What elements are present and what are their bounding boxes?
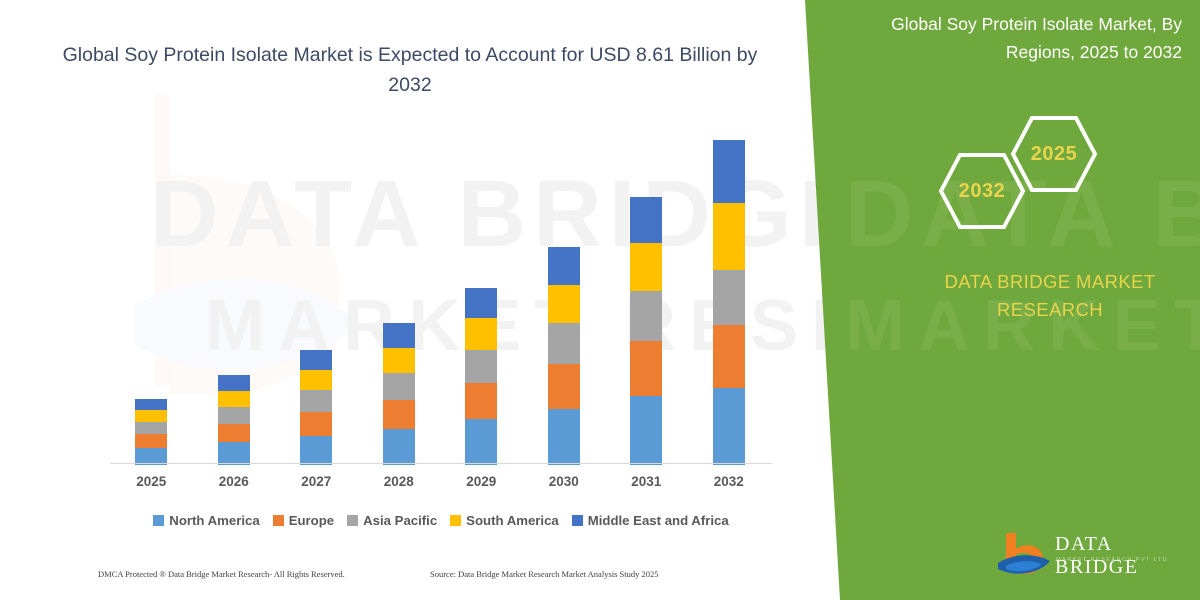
- bar-segment: [383, 373, 415, 399]
- x-label-2025: 2025: [116, 474, 186, 489]
- bar-segment: [383, 323, 415, 348]
- x-label-2028: 2028: [364, 474, 434, 489]
- bar-segment: [465, 318, 497, 349]
- bar-segment: [300, 436, 332, 465]
- bar-2030: [548, 247, 580, 465]
- bar-segment: [630, 396, 662, 465]
- bar-2027: [300, 350, 332, 465]
- bar-segment: [300, 412, 332, 436]
- bar-segment: [218, 375, 250, 390]
- bar-segment: [135, 434, 167, 448]
- bar-segment: [465, 383, 497, 420]
- chart-panel: DATA BRIDGE MARKET RESEARCH Global Soy P…: [0, 0, 840, 600]
- bar-segment: [465, 288, 497, 319]
- bar-segment: [135, 410, 167, 422]
- bar-segment: [218, 442, 250, 465]
- legend-item[interactable]: South America: [450, 513, 559, 528]
- bar-segment: [630, 291, 662, 341]
- x-label-2032: 2032: [694, 474, 764, 489]
- footer-copyright: DMCA Protected ® Data Bridge Market Rese…: [98, 569, 345, 579]
- legend-item[interactable]: Asia Pacific: [347, 513, 437, 528]
- bar-segment: [713, 140, 745, 203]
- logo-tagline: MARKET RESEARCH PVT LTD: [1056, 557, 1168, 563]
- bar-segment: [630, 197, 662, 243]
- bar-2025: [135, 399, 167, 465]
- bar-segment: [300, 370, 332, 390]
- legend-item[interactable]: Middle East and Africa: [572, 513, 729, 528]
- x-label-2026: 2026: [199, 474, 269, 489]
- bar-segment: [548, 364, 580, 409]
- bar-segment: [218, 407, 250, 424]
- legend-swatch-icon: [273, 515, 284, 526]
- footer-source: Source: Data Bridge Market Research Mark…: [430, 569, 659, 579]
- logo-wordmark: DATA BRIDGE: [1055, 533, 1200, 579]
- hexagon-2025: 2025: [1010, 115, 1098, 193]
- bar-segment: [548, 409, 580, 465]
- x-label-2029: 2029: [446, 474, 516, 489]
- bar-segment: [300, 390, 332, 412]
- legend-swatch-icon: [572, 515, 583, 526]
- chart-legend: North AmericaEuropeAsia PacificSouth Ame…: [110, 513, 772, 528]
- x-axis-line: [110, 463, 772, 464]
- bar-segment: [383, 348, 415, 373]
- bar-segment: [713, 203, 745, 269]
- legend-label: Asia Pacific: [363, 513, 437, 528]
- bar-segment: [713, 270, 745, 325]
- bar-2031: [630, 197, 662, 465]
- bar-segment: [713, 325, 745, 388]
- legend-item[interactable]: North America: [153, 513, 259, 528]
- bar-segment: [630, 341, 662, 396]
- legend-label: South America: [466, 513, 559, 528]
- bar-segment: [300, 350, 332, 370]
- plot-area: [110, 140, 770, 465]
- bar-segment: [383, 400, 415, 429]
- x-label-2031: 2031: [611, 474, 681, 489]
- bar-segment: [465, 419, 497, 465]
- legend-swatch-icon: [153, 515, 164, 526]
- bar-2032: [713, 140, 745, 465]
- x-label-2030: 2030: [529, 474, 599, 489]
- legend-swatch-icon: [450, 515, 461, 526]
- bar-segment: [548, 323, 580, 364]
- bar-2026: [218, 375, 250, 465]
- bar-segment: [630, 243, 662, 290]
- panel-title: Global Soy Protein Isolate Market, By Re…: [830, 10, 1190, 66]
- bar-segment: [383, 429, 415, 465]
- brand-name: DATA BRIDGE MARKET RESEARCH: [915, 268, 1185, 324]
- bar-segment: [135, 422, 167, 434]
- legend-item[interactable]: Europe: [273, 513, 334, 528]
- x-label-2027: 2027: [281, 474, 351, 489]
- legend-swatch-icon: [347, 515, 358, 526]
- bar-segment: [218, 424, 250, 442]
- legend-label: Europe: [289, 513, 334, 528]
- legend-label: Middle East and Africa: [588, 513, 729, 528]
- x-axis-labels: 20252026202720282029203020312032: [110, 474, 772, 496]
- hexagon-2032-label: 2032: [959, 180, 1006, 203]
- bar-segment: [713, 388, 745, 465]
- bar-2029: [465, 288, 497, 465]
- bar-2028: [383, 323, 415, 465]
- chart-title: Global Soy Protein Isolate Market is Exp…: [60, 40, 760, 100]
- hexagon-2025-label: 2025: [1031, 143, 1078, 166]
- bar-segment: [465, 350, 497, 383]
- bar-segment: [548, 285, 580, 324]
- bar-segment: [548, 247, 580, 285]
- legend-label: North America: [169, 513, 259, 528]
- bar-segment: [218, 391, 250, 407]
- bar-segment: [135, 399, 167, 411]
